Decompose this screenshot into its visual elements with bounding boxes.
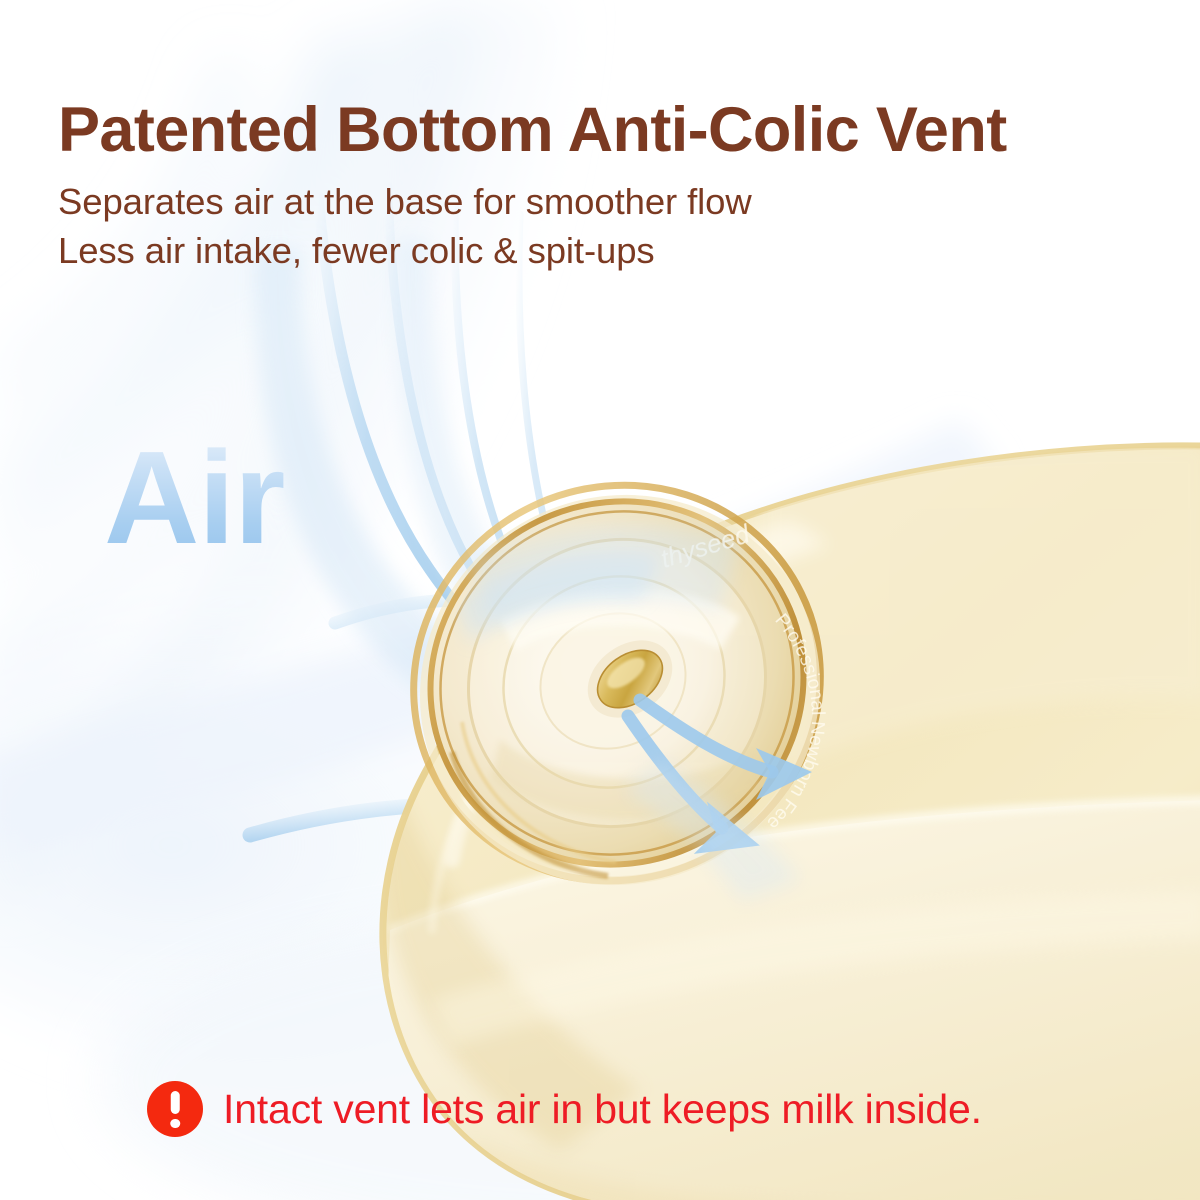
subtitle-line-2: Less air intake, fewer colic & spit-ups [58,227,1158,276]
exclamation-circle-icon [147,1081,203,1137]
outbound-arrowhead-right [756,748,812,800]
subtitle-line-1: Separates air at the base for smoother f… [58,178,1158,227]
subtitle-group: Separates air at the base for smoother f… [58,178,1158,276]
milk-fill [380,800,1200,1200]
brand-mark: thyseed [657,518,754,574]
product-feature-graphic: thyseed Professional Newborn Feeding Bot… [0,0,1200,1200]
air-label: Air [104,432,284,564]
inbound-arrowhead-lower [622,818,680,880]
anti-colic-vent-disc [369,439,865,927]
airflow-outbound-arrows [628,700,812,869]
page-title: Patented Bottom Anti-Colic Vent [58,98,1158,162]
headline-block: Patented Bottom Anti-Colic Vent Separate… [58,98,1158,276]
outbound-arrowhead-down [694,801,767,868]
inbound-arrowhead [584,639,641,700]
warning-caption-text: Intact vent lets air in but keeps milk i… [223,1089,982,1130]
airflow-inbound-streams [250,186,680,880]
bottle-base-ring [347,417,887,949]
warning-caption: Intact vent lets air in but keeps milk i… [147,1081,982,1137]
vent-valve [573,624,687,733]
